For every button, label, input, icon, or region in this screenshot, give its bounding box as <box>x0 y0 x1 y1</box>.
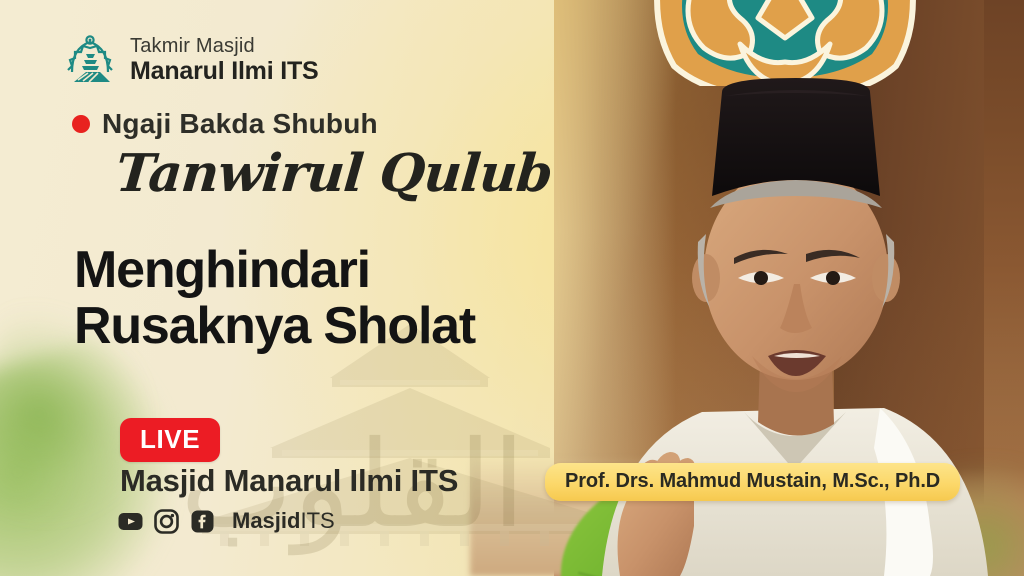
social-handle-secondary: ITS <box>300 508 334 533</box>
venue-label: Masjid Manarul Ilmi ITS <box>120 463 458 499</box>
brand-line-2: Manarul Ilmi ITS <box>130 59 319 84</box>
youtube-icon[interactable] <box>118 509 143 534</box>
headline-line-1: Menghindari <box>74 243 594 299</box>
page-title: Menghindari Rusaknya Sholat <box>74 243 594 354</box>
program-kicker-label: Ngaji Bakda Shubuh <box>102 108 378 140</box>
live-badge: LIVE <box>120 418 220 462</box>
instagram-icon[interactable] <box>154 509 179 534</box>
red-dot-icon <box>72 115 90 133</box>
social-handle-primary: Masjid <box>232 508 300 533</box>
facebook-icon[interactable] <box>190 509 215 534</box>
social-links: MasjidITS <box>118 508 335 534</box>
content-column: Takmir Masjid Manarul Ilmi ITS Ngaji Bak… <box>58 0 578 576</box>
speaker-name-badge: Prof. Drs. Mahmud Mustain, M.Sc., Ph.D <box>545 463 960 501</box>
social-handle: MasjidITS <box>232 508 335 534</box>
program-kicker: Ngaji Bakda Shubuh <box>72 108 378 140</box>
poster-canvas: القلوب <box>0 0 1024 576</box>
brand-lockup: Takmir Masjid Manarul Ilmi ITS <box>62 32 319 88</box>
mosque-gear-logo-icon <box>62 32 118 88</box>
brand-line-1: Takmir Masjid <box>130 36 319 56</box>
series-title: Tanwirul Qulub <box>113 143 554 204</box>
headline-line-2: Rusaknya Sholat <box>74 299 594 355</box>
